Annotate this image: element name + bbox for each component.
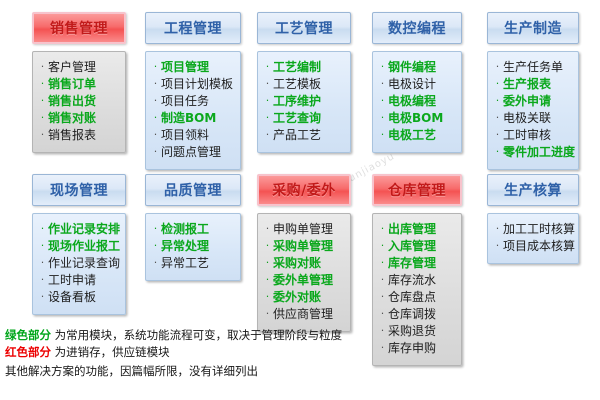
- module-item-label: 生产任务单: [503, 59, 563, 76]
- module-item-list: ·检测报工·异常处理·异常工艺: [150, 221, 236, 272]
- module-item[interactable]: ·产品工艺: [262, 127, 346, 144]
- module-item[interactable]: ·工艺查询: [262, 110, 346, 127]
- bullet-icon: ·: [37, 288, 48, 305]
- module-item-label: 项目计划模板: [161, 76, 233, 93]
- module-item-label: 库存流水: [388, 272, 436, 289]
- module-header-quality[interactable]: 品质管理: [145, 174, 241, 206]
- legend-text-red: 为进销存，供应链模块: [55, 345, 170, 359]
- legend: 绿色部分 为常用模块，系统功能流程可变，取决于管理阶段与粒度 红色部分 为进销存…: [5, 327, 425, 380]
- module-item-label: 检测报工: [161, 221, 209, 238]
- module-item-label: 客户管理: [48, 59, 96, 76]
- module-item-label: 生产报表: [503, 76, 551, 93]
- bullet-icon: ·: [262, 305, 273, 322]
- module-item-label: 供应商管理: [273, 306, 333, 323]
- module-header-engineering[interactable]: 工程管理: [145, 12, 241, 44]
- bullet-icon: ·: [150, 126, 161, 143]
- module-grid: 销售管理·客户管理·销售订单·销售出货·销售对账·销售报表工程管理·项目管理·项…: [0, 0, 600, 330]
- bullet-icon: ·: [150, 75, 161, 92]
- module-item[interactable]: ·出库管理: [377, 221, 457, 238]
- module-item-list: ·客户管理·销售订单·销售出货·销售对账·销售报表: [37, 59, 121, 144]
- module-item-list: ·作业记录安排·现场作业报工·作业记录查询·工时申请·设备看板: [37, 221, 121, 306]
- module-item[interactable]: ·钢件编程: [377, 59, 457, 76]
- legend-line-green: 绿色部分 为常用模块，系统功能流程可变，取决于管理阶段与粒度: [5, 327, 425, 344]
- bullet-icon: ·: [262, 109, 273, 126]
- module-item[interactable]: ·采购对账: [262, 255, 346, 272]
- module-header-shopfloor[interactable]: 现场管理: [32, 174, 126, 206]
- module-panel-process: ·工艺编制·工艺模板·工序维护·工艺查询·产品工艺: [257, 51, 351, 153]
- bullet-icon: ·: [377, 58, 388, 75]
- module-item[interactable]: ·加工工时核算: [492, 221, 574, 238]
- module-column-engineering: 工程管理·项目管理·项目计划模板·项目任务·制造BOM·项目领料·问题点管理: [145, 12, 241, 170]
- module-item-label: 出库管理: [388, 221, 436, 238]
- module-item-label: 项目领料: [161, 127, 209, 144]
- module-item[interactable]: ·销售出货: [37, 93, 121, 110]
- module-item[interactable]: ·仓库盘点: [377, 289, 457, 306]
- module-item[interactable]: ·项目成本核算: [492, 238, 574, 255]
- module-item-label: 工时申请: [48, 272, 96, 289]
- module-column-production-costing: 生产核算·加工工时核算·项目成本核算: [487, 174, 579, 264]
- module-item-label: 异常处理: [161, 238, 209, 255]
- bullet-icon: ·: [262, 92, 273, 109]
- module-item-label: 销售订单: [48, 76, 96, 93]
- bullet-icon: ·: [150, 92, 161, 109]
- module-header-purchasing-outsourcing[interactable]: 采购/委外: [257, 174, 351, 206]
- module-header-cnc-programming[interactable]: 数控编程: [372, 12, 462, 44]
- bullet-icon: ·: [37, 271, 48, 288]
- bullet-icon: ·: [150, 237, 161, 254]
- bullet-icon: ·: [262, 126, 273, 143]
- module-column-purchasing-outsourcing: 采购/委外·申购单管理·采购单管理·采购对账·委外单管理·委外对账·供应商管理: [257, 174, 351, 332]
- module-item-list: ·工艺编制·工艺模板·工序维护·工艺查询·产品工艺: [262, 59, 346, 144]
- module-item[interactable]: ·电极编程: [377, 93, 457, 110]
- module-item-label: 采购单管理: [273, 238, 333, 255]
- module-item-list: ·申购单管理·采购单管理·采购对账·委外单管理·委外对账·供应商管理: [262, 221, 346, 323]
- module-item-label: 工艺查询: [273, 110, 321, 127]
- bullet-icon: ·: [492, 220, 503, 237]
- module-item-label: 销售报表: [48, 127, 96, 144]
- module-item-label: 作业记录查询: [48, 255, 120, 272]
- module-item[interactable]: ·作业记录安排: [37, 221, 121, 238]
- module-item-label: 工序维护: [273, 93, 321, 110]
- legend-line-note: 其他解决方案的功能，因篇幅所限，没有详细列出: [5, 363, 425, 380]
- module-panel-quality: ·检测报工·异常处理·异常工艺: [145, 213, 241, 281]
- module-item[interactable]: ·库存流水: [377, 272, 457, 289]
- bullet-icon: ·: [262, 288, 273, 305]
- module-item[interactable]: ·销售报表: [37, 127, 121, 144]
- module-column-shopfloor: 现场管理·作业记录安排·现场作业报工·作业记录查询·工时申请·设备看板: [32, 174, 126, 315]
- module-item-label: 现场作业报工: [48, 238, 120, 255]
- module-item[interactable]: ·零件加工进度: [492, 144, 574, 161]
- module-item[interactable]: ·委外对账: [262, 289, 346, 306]
- module-column-cnc-programming: 数控编程·钢件编程·电极设计·电极编程·电极BOM·电极工艺: [372, 12, 462, 153]
- module-item-label: 委外对账: [273, 289, 321, 306]
- module-item-label: 电极工艺: [388, 127, 436, 144]
- bullet-icon: ·: [377, 92, 388, 109]
- module-panel-purchasing-outsourcing: ·申购单管理·采购单管理·采购对账·委外单管理·委外对账·供应商管理: [257, 213, 351, 332]
- module-item[interactable]: ·异常工艺: [150, 255, 236, 272]
- module-item[interactable]: ·委外申请: [492, 93, 574, 110]
- module-header-sales[interactable]: 销售管理: [32, 12, 126, 44]
- bullet-icon: ·: [492, 58, 503, 75]
- module-panel-production-costing: ·加工工时核算·项目成本核算: [487, 213, 579, 264]
- module-item-label: 加工工时核算: [503, 221, 575, 238]
- module-item-list: ·加工工时核算·项目成本核算: [492, 221, 574, 255]
- bullet-icon: ·: [150, 143, 161, 160]
- module-item-list: ·钢件编程·电极设计·电极编程·电极BOM·电极工艺: [377, 59, 457, 144]
- module-column-process: 工艺管理·工艺编制·工艺模板·工序维护·工艺查询·产品工艺: [257, 12, 351, 153]
- module-item[interactable]: ·仓库调拨: [377, 306, 457, 323]
- bullet-icon: ·: [262, 75, 273, 92]
- module-item[interactable]: ·异常处理: [150, 238, 236, 255]
- module-item[interactable]: ·生产任务单: [492, 59, 574, 76]
- module-item-label: 工艺模板: [273, 76, 321, 93]
- module-item[interactable]: ·制造BOM: [150, 110, 236, 127]
- module-column-sales: 销售管理·客户管理·销售订单·销售出货·销售对账·销售报表: [32, 12, 126, 153]
- module-item-label: 作业记录安排: [48, 221, 120, 238]
- module-item-label: 电极关联: [503, 110, 551, 127]
- bullet-icon: ·: [377, 271, 388, 288]
- bullet-icon: ·: [492, 237, 503, 254]
- module-item-label: 钢件编程: [388, 59, 436, 76]
- bullet-icon: ·: [262, 271, 273, 288]
- module-item[interactable]: ·问题点管理: [150, 144, 236, 161]
- module-item[interactable]: ·工序维护: [262, 93, 346, 110]
- module-item-label: 异常工艺: [161, 255, 209, 272]
- module-item[interactable]: ·销售订单: [37, 76, 121, 93]
- module-item-label: 制造BOM: [161, 110, 216, 127]
- module-header-process[interactable]: 工艺管理: [257, 12, 351, 44]
- module-item[interactable]: ·供应商管理: [262, 306, 346, 323]
- module-item-label: 仓库调拨: [388, 306, 436, 323]
- bullet-icon: ·: [377, 126, 388, 143]
- module-item-label: 设备看板: [48, 289, 96, 306]
- bullet-icon: ·: [37, 254, 48, 271]
- bullet-icon: ·: [37, 237, 48, 254]
- module-item[interactable]: ·电极BOM: [377, 110, 457, 127]
- bullet-icon: ·: [377, 237, 388, 254]
- module-item-label: 工时审核: [503, 127, 551, 144]
- module-header-production[interactable]: 生产制造: [487, 12, 579, 44]
- bullet-icon: ·: [377, 109, 388, 126]
- module-item-label: 电极BOM: [388, 110, 443, 127]
- module-item-label: 问题点管理: [161, 144, 221, 161]
- module-item-label: 产品工艺: [273, 127, 321, 144]
- bullet-icon: ·: [262, 254, 273, 271]
- module-header-production-costing[interactable]: 生产核算: [487, 174, 579, 206]
- module-item[interactable]: ·现场作业报工: [37, 238, 121, 255]
- module-item-label: 申购单管理: [273, 221, 333, 238]
- legend-tag-green: 绿色部分: [5, 328, 51, 342]
- module-item-list: ·项目管理·项目计划模板·项目任务·制造BOM·项目领料·问题点管理: [150, 59, 236, 161]
- module-item[interactable]: ·申购单管理: [262, 221, 346, 238]
- module-item-list: ·生产任务单·生产报表·委外申请·电极关联·工时审核·零件加工进度: [492, 59, 574, 161]
- bullet-icon: ·: [377, 254, 388, 271]
- module-item-label: 仓库盘点: [388, 289, 436, 306]
- module-item[interactable]: ·库存管理: [377, 255, 457, 272]
- legend-line-red: 红色部分 为进销存，供应链模块: [5, 344, 425, 361]
- module-column-production: 生产制造·生产任务单·生产报表·委外申请·电极关联·工时审核·零件加工进度: [487, 12, 579, 170]
- module-item[interactable]: ·项目管理: [150, 59, 236, 76]
- module-item-label: 销售对账: [48, 110, 96, 127]
- bullet-icon: ·: [150, 254, 161, 271]
- bullet-icon: ·: [377, 305, 388, 322]
- module-item[interactable]: ·入库管理: [377, 238, 457, 255]
- bullet-icon: ·: [492, 92, 503, 109]
- module-item[interactable]: ·生产报表: [492, 76, 574, 93]
- module-item-label: 入库管理: [388, 238, 436, 255]
- module-item-label: 采购对账: [273, 255, 321, 272]
- module-item-label: 委外单管理: [273, 272, 333, 289]
- legend-text-green: 为常用模块，系统功能流程可变，取决于管理阶段与粒度: [55, 328, 343, 342]
- module-item-label: 电极设计: [388, 76, 436, 93]
- module-item-label: 项目成本核算: [503, 238, 575, 255]
- module-item[interactable]: ·采购单管理: [262, 238, 346, 255]
- diagram-canvas: 云教育 易云教育yunjiaoyu 销售管理·客户管理·销售订单·销售出货·销售…: [0, 0, 600, 400]
- module-panel-sales: ·客户管理·销售订单·销售出货·销售对账·销售报表: [32, 51, 126, 153]
- module-item-label: 项目管理: [161, 59, 209, 76]
- module-item-label: 库存管理: [388, 255, 436, 272]
- bullet-icon: ·: [150, 109, 161, 126]
- module-item[interactable]: ·工艺模板: [262, 76, 346, 93]
- module-item-label: 委外申请: [503, 93, 551, 110]
- module-item[interactable]: ·销售对账: [37, 110, 121, 127]
- bullet-icon: ·: [492, 143, 503, 160]
- module-item-label: 销售出货: [48, 93, 96, 110]
- bullet-icon: ·: [377, 75, 388, 92]
- module-item[interactable]: ·电极设计: [377, 76, 457, 93]
- bullet-icon: ·: [37, 109, 48, 126]
- module-item[interactable]: ·项目任务: [150, 93, 236, 110]
- module-item[interactable]: ·工时申请: [37, 272, 121, 289]
- module-item[interactable]: ·项目领料: [150, 127, 236, 144]
- module-item[interactable]: ·委外单管理: [262, 272, 346, 289]
- module-item-label: 电极编程: [388, 93, 436, 110]
- module-item[interactable]: ·电极工艺: [377, 127, 457, 144]
- module-item-label: 工艺编制: [273, 59, 321, 76]
- module-item[interactable]: ·电极关联: [492, 110, 574, 127]
- module-header-warehouse[interactable]: 仓库管理: [372, 174, 462, 206]
- module-panel-engineering: ·项目管理·项目计划模板·项目任务·制造BOM·项目领料·问题点管理: [145, 51, 241, 170]
- module-item[interactable]: ·工时审核: [492, 127, 574, 144]
- bullet-icon: ·: [262, 58, 273, 75]
- module-item-label: 零件加工进度: [503, 144, 575, 161]
- module-panel-shopfloor: ·作业记录安排·现场作业报工·作业记录查询·工时申请·设备看板: [32, 213, 126, 315]
- bullet-icon: ·: [37, 220, 48, 237]
- module-item-label: 项目任务: [161, 93, 209, 110]
- module-item[interactable]: ·工艺编制: [262, 59, 346, 76]
- module-item[interactable]: ·设备看板: [37, 289, 121, 306]
- legend-tag-red: 红色部分: [5, 345, 51, 359]
- module-item[interactable]: ·项目计划模板: [150, 76, 236, 93]
- bullet-icon: ·: [37, 75, 48, 92]
- bullet-icon: ·: [492, 75, 503, 92]
- module-panel-production: ·生产任务单·生产报表·委外申请·电极关联·工时审核·零件加工进度: [487, 51, 579, 170]
- bullet-icon: ·: [150, 58, 161, 75]
- bullet-icon: ·: [377, 220, 388, 237]
- bullet-icon: ·: [262, 237, 273, 254]
- bullet-icon: ·: [37, 58, 48, 75]
- module-item[interactable]: ·作业记录查询: [37, 255, 121, 272]
- module-column-quality: 品质管理·检测报工·异常处理·异常工艺: [145, 174, 241, 281]
- bullet-icon: ·: [150, 220, 161, 237]
- bullet-icon: ·: [377, 288, 388, 305]
- bullet-icon: ·: [492, 109, 503, 126]
- module-item[interactable]: ·检测报工: [150, 221, 236, 238]
- bullet-icon: ·: [37, 92, 48, 109]
- bullet-icon: ·: [262, 220, 273, 237]
- bullet-icon: ·: [492, 126, 503, 143]
- bullet-icon: ·: [37, 126, 48, 143]
- module-panel-cnc-programming: ·钢件编程·电极设计·电极编程·电极BOM·电极工艺: [372, 51, 462, 153]
- module-item[interactable]: ·客户管理: [37, 59, 121, 76]
